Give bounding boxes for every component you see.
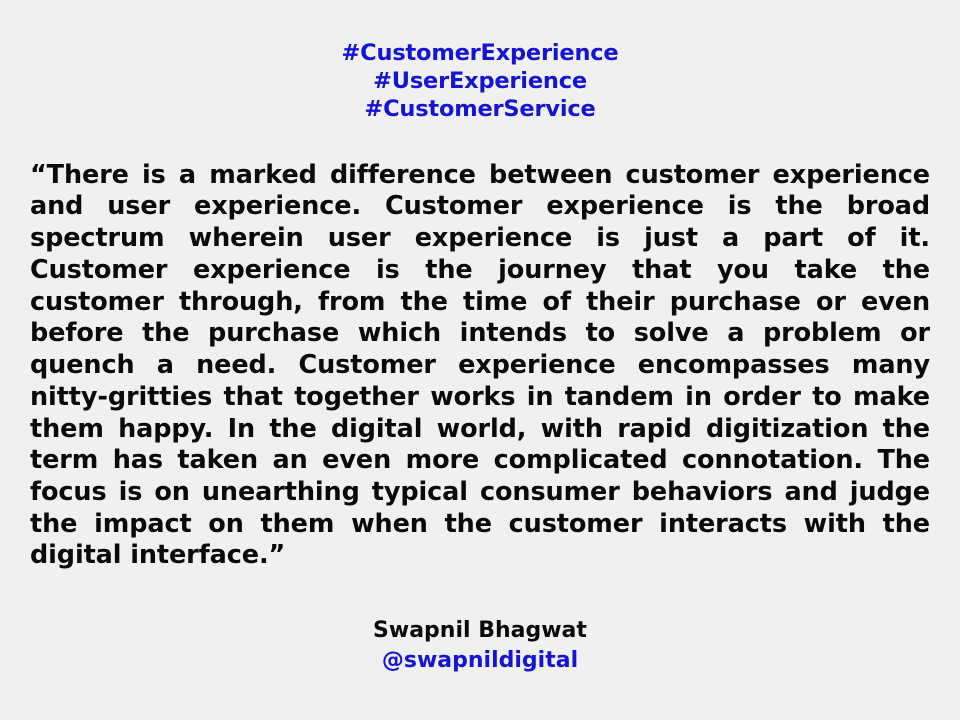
quote-slide: #CustomerExperience #UserExperience #Cus…	[0, 0, 960, 720]
hashtag-customer-service: #CustomerService	[26, 96, 934, 124]
hashtag-user-experience: #UserExperience	[26, 68, 934, 96]
hashtag-customer-experience: #CustomerExperience	[26, 40, 934, 68]
author-name: Swapnil Bhagwat	[26, 617, 934, 646]
quote-text: “There is a marked difference between cu…	[26, 160, 934, 573]
author-handle: @swapnildigital	[26, 647, 934, 676]
attribution-block: Swapnil Bhagwat @swapnildigital	[26, 617, 934, 676]
hashtag-block: #CustomerExperience #UserExperience #Cus…	[26, 40, 934, 124]
